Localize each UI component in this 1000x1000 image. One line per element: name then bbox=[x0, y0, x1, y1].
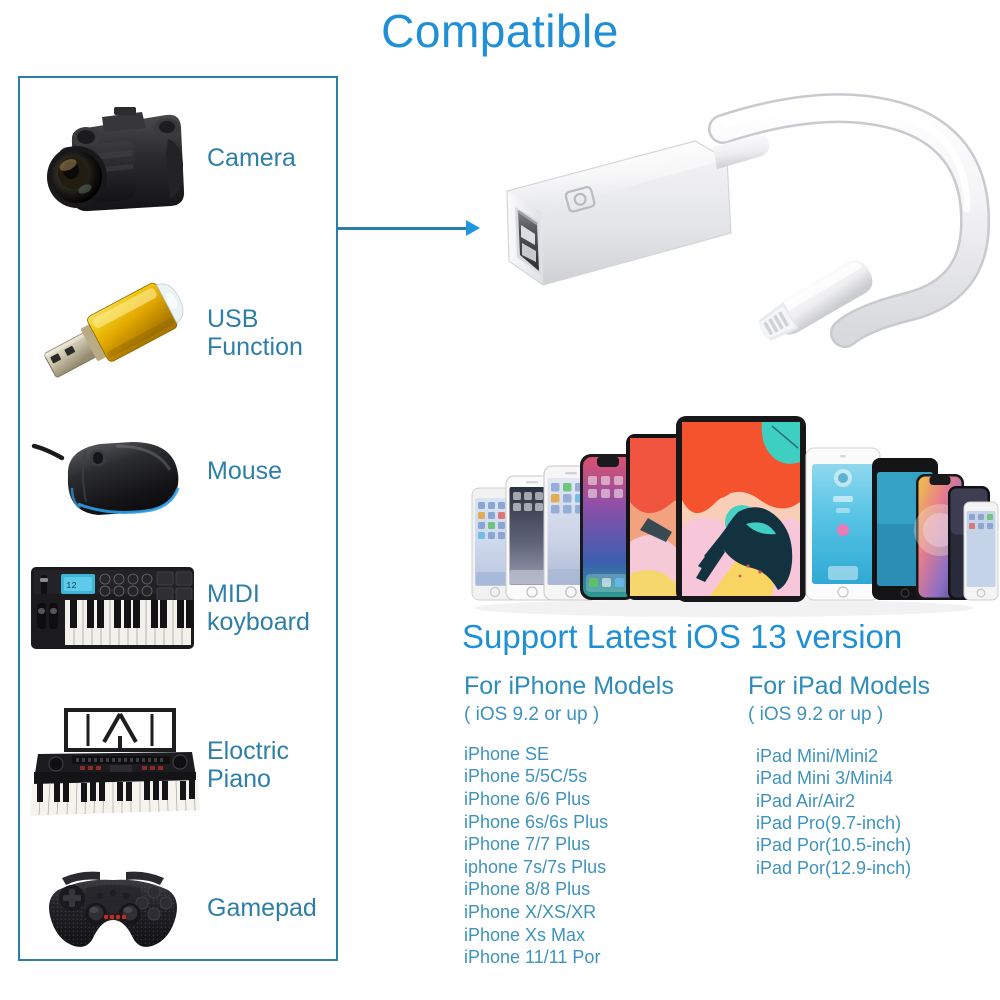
list-item: iPad Pro(9.7-inch) bbox=[756, 812, 998, 834]
list-item: iPad Mini 3/Mini4 bbox=[756, 767, 998, 789]
compatibility-box: Camera bbox=[18, 76, 338, 961]
ipad-models-list: iPad Mini/Mini2 iPad Mini 3/Mini4 iPad A… bbox=[748, 745, 998, 879]
connector-line bbox=[338, 227, 470, 230]
compat-label-usb: USB Function bbox=[205, 305, 340, 361]
list-item: iPhone 7/7 Plus bbox=[464, 833, 734, 856]
list-item: iPhone Xs Max bbox=[464, 924, 734, 947]
lightning-to-usb-adapter-image bbox=[455, 85, 1000, 395]
list-item: iPhone 6/6 Plus bbox=[464, 788, 734, 811]
list-item: iPad Air/Air2 bbox=[756, 790, 998, 812]
compat-row-usb: USB Function bbox=[20, 268, 340, 398]
list-item: iPhone 5/5C/5s bbox=[464, 765, 734, 788]
infographic-root: Compatible bbox=[0, 0, 1000, 1000]
list-item: iPhone 6s/6s Plus bbox=[464, 811, 734, 834]
electric-piano-icon bbox=[20, 690, 205, 840]
iphone-models-subtitle: ( iOS 9.2 or up ) bbox=[464, 704, 734, 727]
compat-label-usb-line2: Function bbox=[207, 333, 303, 361]
compat-label-piano: Eloctric Piano bbox=[205, 737, 340, 793]
list-item: iPhone 11/11 Por bbox=[464, 946, 734, 969]
dslr-camera-icon bbox=[20, 88, 205, 228]
list-item: iPhone SE bbox=[464, 743, 734, 766]
gamepad-icon bbox=[20, 853, 205, 963]
compat-label-midi-line2: koyboard bbox=[207, 608, 310, 636]
compat-label-camera: Camera bbox=[205, 144, 340, 172]
compat-row-camera: Camera bbox=[20, 88, 340, 228]
list-item: iPad Mini/Mini2 bbox=[756, 745, 998, 767]
compat-label-midi: MIDI koyboard bbox=[205, 580, 340, 636]
list-item: iPad Por(12.9-inch) bbox=[756, 857, 998, 879]
compat-label-piano-line2: Piano bbox=[207, 765, 271, 793]
ipad-models-subtitle: ( iOS 9.2 or up ) bbox=[748, 704, 998, 727]
iphone-models-title: For iPhone Models bbox=[464, 672, 734, 700]
apple-device-lineup-image bbox=[448, 392, 1000, 620]
page-title: Compatible bbox=[0, 4, 1000, 58]
compat-row-gamepad: Gamepad bbox=[20, 853, 340, 963]
compat-label-gamepad: Gamepad bbox=[205, 894, 340, 922]
list-item: iPhone 8/8 Plus bbox=[464, 878, 734, 901]
usb-flash-drive-icon bbox=[20, 268, 205, 398]
computer-mouse-icon bbox=[20, 408, 205, 533]
compat-label-mouse: Mouse bbox=[205, 457, 340, 485]
list-item: iPhone X/XS/XR bbox=[464, 901, 734, 924]
list-item: iPad Por(10.5-inch) bbox=[756, 834, 998, 856]
ipad-models-column: For iPad Models ( iOS 9.2 or up ) iPad M… bbox=[748, 672, 998, 879]
ipad-models-title: For iPad Models bbox=[748, 672, 998, 700]
compat-label-piano-line1: Eloctric bbox=[207, 737, 289, 765]
compat-row-midi: 12 bbox=[20, 538, 340, 678]
iphone-models-list: iPhone SE iPhone 5/5C/5s iPhone 6/6 Plus… bbox=[464, 743, 734, 969]
compat-label-midi-line1: MIDI bbox=[207, 580, 260, 608]
iphone-models-column: For iPhone Models ( iOS 9.2 or up ) iPho… bbox=[464, 672, 734, 969]
support-heading: Support Latest iOS 13 version bbox=[462, 618, 997, 656]
compat-row-mouse: Mouse bbox=[20, 408, 340, 533]
midi-keyboard-icon: 12 bbox=[20, 538, 205, 678]
svg-text:12: 12 bbox=[66, 581, 77, 591]
compat-row-piano: Eloctric Piano bbox=[20, 690, 340, 840]
compat-label-usb-line1: USB bbox=[207, 305, 258, 333]
list-item: iphone 7s/7s Plus bbox=[464, 856, 734, 879]
